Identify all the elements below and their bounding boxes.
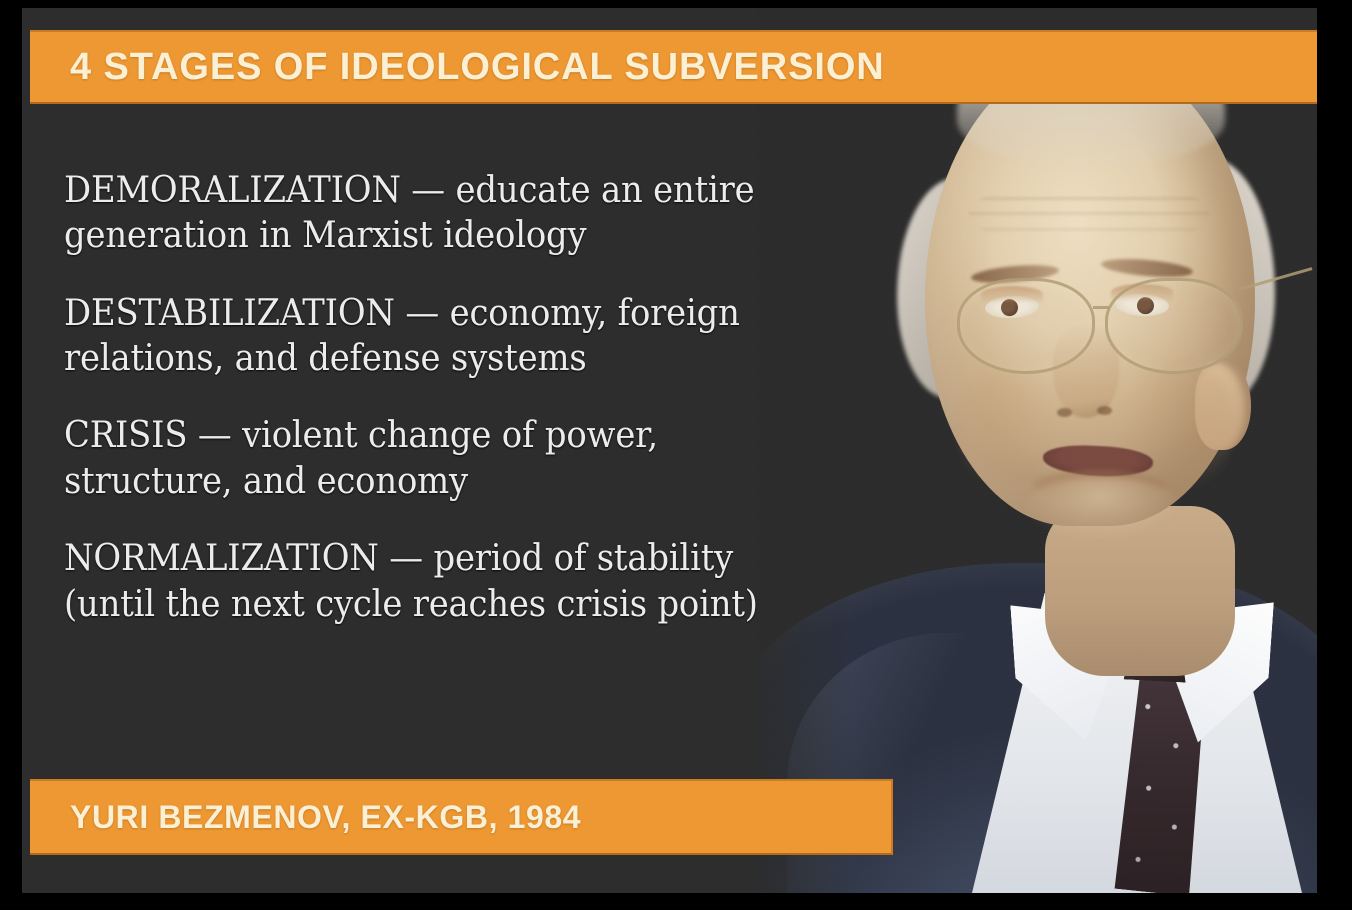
letterbox-top (0, 0, 1352, 8)
nose (1053, 326, 1119, 418)
video-still: 4 STAGES OF IDEOLOGICAL SUBVERSION DEMOR… (22, 8, 1317, 893)
video-frame: 4 STAGES OF IDEOLOGICAL SUBVERSION DEMOR… (0, 0, 1352, 910)
attribution-bar: YURI BEZMENOV, EX-KGB, 1984 (30, 779, 893, 855)
nostril-left (1057, 408, 1072, 417)
letterbox-left (0, 0, 22, 910)
slide-title-bar: 4 STAGES OF IDEOLOGICAL SUBVERSION (30, 30, 1317, 104)
stages-list: DEMORALIZATION — educate an entire gener… (64, 168, 864, 627)
page-title: 4 STAGES OF IDEOLOGICAL SUBVERSION (70, 46, 885, 89)
list-item: CRISIS — violent change of power, struct… (64, 413, 816, 504)
glasses-bridge (1093, 306, 1109, 309)
list-item: DEMORALIZATION — educate an entire gener… (64, 168, 816, 259)
forehead-wrinkles (969, 188, 1209, 240)
nostril-right (1097, 406, 1112, 415)
list-item: NORMALIZATION — period of stability (unt… (64, 536, 816, 627)
chin (1021, 478, 1181, 540)
letterbox-bottom (0, 893, 1352, 910)
letterbox-right (1317, 0, 1352, 910)
list-item: DESTABILIZATION — economy, foreign relat… (64, 291, 816, 382)
lens-right (1105, 278, 1243, 374)
attribution-text: YURI BEZMENOV, EX-KGB, 1984 (70, 799, 581, 836)
